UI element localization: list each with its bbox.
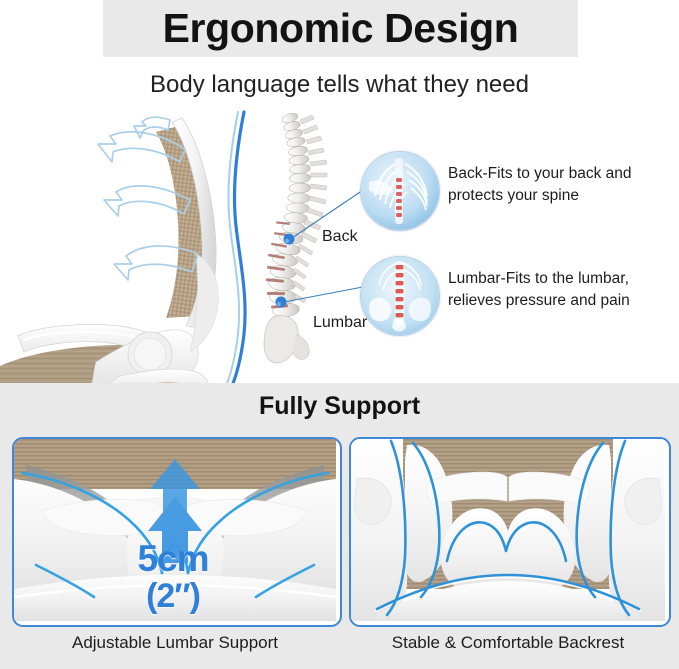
callout-text-lumbar: Lumbar-Fits to the lumbar, relieves pres… (448, 268, 664, 313)
caption-backrest: Stable & Comfortable Backrest (349, 630, 667, 656)
spine-label-lumbar: Lumbar (313, 314, 367, 332)
panel-lumbar-support (12, 437, 342, 627)
backrest-rear-view-image (351, 439, 665, 621)
thoracic-spine-xray-circle (360, 151, 440, 231)
page-title: Ergonomic Design (103, 0, 578, 57)
spine-label-back: Back (322, 228, 358, 246)
caption-lumbar-support: Adjustable Lumbar Support (12, 630, 338, 656)
lumbar-spine-xray-circle (360, 256, 440, 336)
panel-backrest (349, 437, 671, 627)
page-subtitle: Body language tells what they need (0, 68, 679, 102)
hero-section: Back Lumbar Back-Fits to your back and p… (0, 104, 679, 383)
section-title-fully-support: Fully Support (0, 390, 679, 422)
ergonomic-design-infographic: Ergonomic Design Body language tells wha… (0, 0, 679, 669)
callout-text-back: Back-Fits to your back and protects your… (448, 163, 664, 208)
lumbar-support-closeup-image (14, 439, 336, 621)
